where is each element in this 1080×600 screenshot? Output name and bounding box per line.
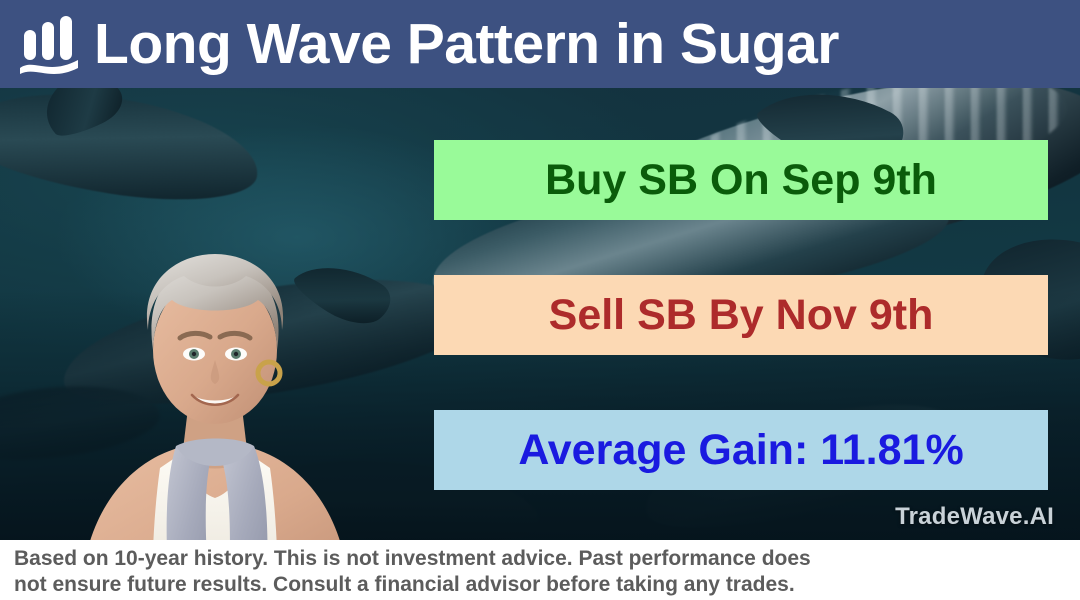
- callout-sell-label: Sell SB By Nov 9th: [549, 294, 934, 337]
- callout-average-gain: Average Gain: 11.81%: [434, 410, 1048, 490]
- disclaimer-line-2: not ensure future results. Consult a fin…: [14, 572, 1072, 598]
- callout-gain-label: Average Gain: 11.81%: [518, 429, 963, 472]
- disclaimer-line-1: Based on 10-year history. This is not in…: [14, 546, 1072, 572]
- callout-buy-label: Buy SB On Sep 9th: [545, 159, 937, 202]
- disclaimer-footer: Based on 10-year history. This is not in…: [0, 540, 1080, 600]
- portrait-head: [147, 254, 283, 424]
- poster-canvas: Long Wave Pattern in Sugar Buy SB On Sep…: [0, 0, 1080, 600]
- callout-sell-signal: Sell SB By Nov 9th: [434, 275, 1048, 355]
- page-title: Long Wave Pattern in Sugar: [94, 16, 839, 73]
- header-bar: Long Wave Pattern in Sugar: [0, 0, 1080, 88]
- brand-watermark: TradeWave.AI: [895, 503, 1054, 531]
- bar-chart-wave-icon: [18, 16, 80, 74]
- callout-buy-signal: Buy SB On Sep 9th: [434, 140, 1048, 220]
